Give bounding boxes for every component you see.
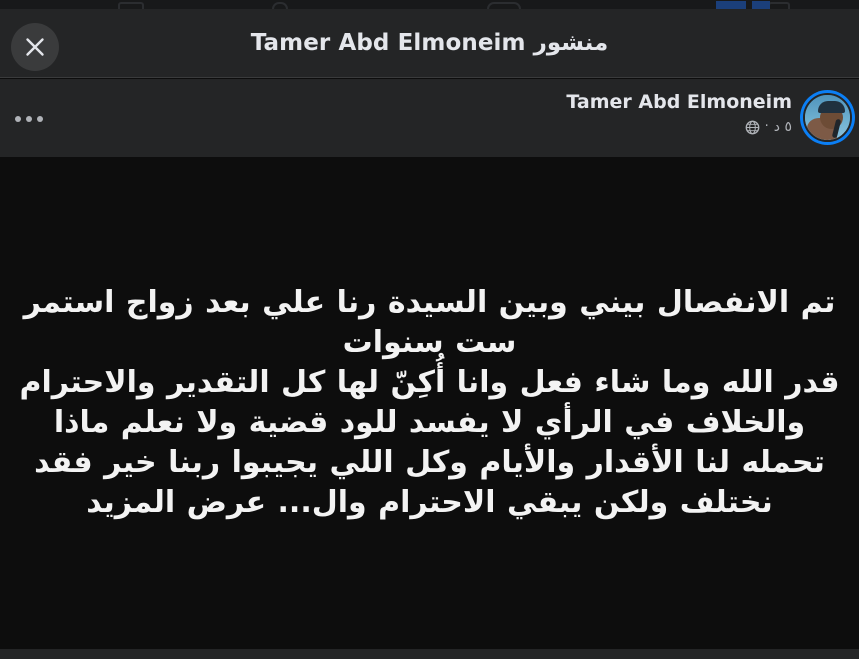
author-info: Tamer Abd Elmoneim ٥ د · [566,90,792,136]
ellipsis-icon [15,116,43,122]
post-author-header: Tamer Abd Elmoneim ٥ د · [0,79,859,157]
background-nav-active-indicator [752,1,770,9]
dialog-titlebar: منشور Tamer Abd Elmoneim [0,9,859,78]
post-meta: ٥ د · [566,118,792,136]
post-content: تم الانفصال بيني وبين السيدة رنا علي بعد… [0,157,859,649]
post-viewer-dialog: منشور Tamer Abd Elmoneim Tamer Abd Elmon… [0,0,859,659]
avatar[interactable] [800,90,855,145]
page-title: منشور Tamer Abd Elmoneim [0,27,859,59]
background-nav-strip [0,0,859,9]
background-nav-icon [487,2,521,9]
see-more-link[interactable]: عرض المزيد [86,485,266,520]
background-nav-icon [272,2,288,9]
meta-separator: · [765,118,769,136]
background-nav-icon [768,2,790,9]
post-timestamp[interactable]: ٥ د [774,118,792,136]
background-nav-icon [118,2,144,9]
avatar-image [803,93,852,142]
background-nav-active-indicator [716,1,746,9]
bottom-bar [0,649,859,659]
globe-icon[interactable] [745,120,760,135]
post-paragraph-2: قدر الله وما شاء فعل وانا أُكِنّ لها كل … [18,363,841,523]
post-paragraph-1: تم الانفصال بيني وبين السيدة رنا علي بعد… [18,283,841,363]
post-text: تم الانفصال بيني وبين السيدة رنا علي بعد… [18,283,841,523]
author-name[interactable]: Tamer Abd Elmoneim [566,90,792,115]
post-options-button[interactable] [6,96,52,142]
